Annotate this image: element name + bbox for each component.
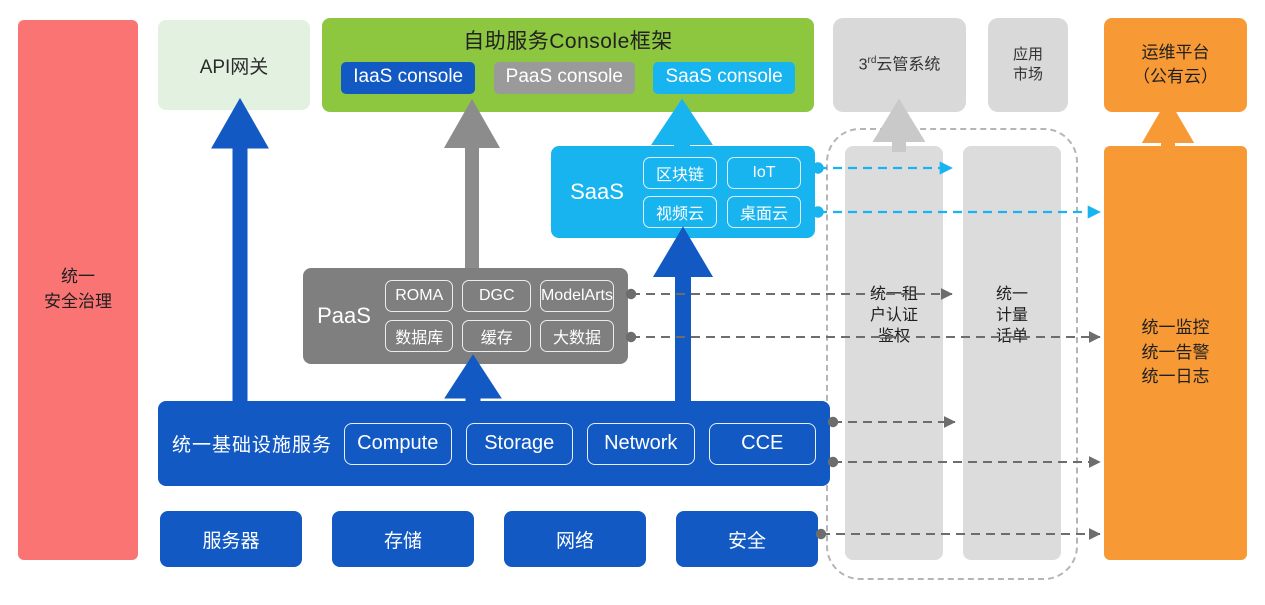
paas-pill-dgc[interactable]: DGC	[462, 280, 530, 312]
arrow-saas-to-console	[666, 113, 698, 146]
right-panel-line-2: 统一告警	[1142, 341, 1210, 366]
console-frame-title: 自助服务Console框架	[322, 18, 814, 62]
unified-security-governance-panel: 统一 安全治理	[18, 20, 138, 560]
paas-pill-modelarts[interactable]: ModelArts	[540, 280, 614, 312]
right-panel-line-3: 统一日志	[1142, 365, 1210, 390]
hardware-box-server[interactable]: 服务器	[160, 511, 302, 567]
saas-layer-box: SaaS 区块链 IoT 视频云 桌面云	[551, 146, 815, 238]
saas-pill-blockchain[interactable]: 区块链	[643, 157, 717, 189]
paas-pill-roma[interactable]: ROMA	[385, 280, 453, 312]
infra-pill-network[interactable]: Network	[587, 423, 695, 465]
arrow-infra-to-saas	[667, 242, 699, 401]
paas-console-chip[interactable]: PaaS console	[494, 62, 635, 94]
hardware-box-security[interactable]: 安全	[676, 511, 818, 567]
infra-pill-storage[interactable]: Storage	[466, 423, 574, 465]
infra-pill-cce[interactable]: CCE	[709, 423, 817, 465]
service-column-tenant-auth-label: 统一租 户认证 鉴权	[845, 285, 943, 347]
ops-platform-box[interactable]: 运维平台 （公有云）	[1104, 18, 1247, 112]
self-service-console-frame: 自助服务Console框架 IaaS console PaaS console …	[322, 18, 814, 112]
arrow-paas-to-console	[456, 113, 488, 268]
ops-platform-line-2: （公有云）	[1133, 65, 1218, 89]
arrow-infra-to-api-gateway	[224, 113, 256, 401]
hardware-box-storage[interactable]: 存储	[332, 511, 474, 567]
hardware-box-network[interactable]: 网络	[504, 511, 646, 567]
saas-pill-iot[interactable]: IoT	[727, 157, 801, 189]
unified-monitoring-panel: 统一监控 统一告警 统一日志	[1104, 146, 1247, 560]
api-gateway-label: API网关	[200, 52, 269, 79]
saas-pill-video-cloud[interactable]: 视频云	[643, 196, 717, 228]
paas-pill-cache[interactable]: 缓存	[462, 320, 530, 352]
iaas-console-chip[interactable]: IaaS console	[341, 62, 475, 94]
infra-layer-label: 统一基础设施服务	[172, 430, 332, 457]
paas-pill-bigdata[interactable]: 大数据	[540, 320, 614, 352]
left-panel-line-2: 安全治理	[44, 290, 112, 315]
saas-pill-desktop-cloud[interactable]: 桌面云	[727, 196, 801, 228]
third-party-cloud-mgmt-box[interactable]: 3rd云管系统	[833, 18, 966, 112]
app-market-line-2: 市场	[1013, 65, 1043, 85]
third-party-label: 3rd云管系统	[859, 54, 941, 76]
arrow-infra-to-paas	[458, 368, 488, 401]
saas-console-chip[interactable]: SaaS console	[653, 62, 794, 94]
app-market-line-1: 应用	[1013, 45, 1043, 65]
paas-layer-box: PaaS ROMA DGC ModelArts 数据库 缓存 大数据	[303, 268, 628, 364]
right-panel-line-1: 统一监控	[1142, 316, 1210, 341]
arrow-ops-platform-inbound	[1154, 112, 1182, 146]
service-column-metering-billing-label: 统一 计量 话单	[963, 285, 1061, 347]
api-gateway-box[interactable]: API网关	[158, 20, 310, 110]
service-column-metering-billing[interactable]	[963, 146, 1061, 560]
paas-pill-database[interactable]: 数据库	[385, 320, 453, 352]
saas-layer-label: SaaS	[551, 179, 643, 205]
app-market-box[interactable]: 应用 市场	[988, 18, 1068, 112]
paas-layer-label: PaaS	[303, 303, 385, 329]
service-column-tenant-auth[interactable]	[845, 146, 943, 560]
unified-infrastructure-box: 统一基础设施服务 Compute Storage Network CCE	[158, 401, 830, 486]
left-panel-line-1: 统一	[61, 265, 95, 290]
ops-platform-line-1: 运维平台	[1142, 41, 1210, 65]
infra-pill-compute[interactable]: Compute	[344, 423, 451, 465]
